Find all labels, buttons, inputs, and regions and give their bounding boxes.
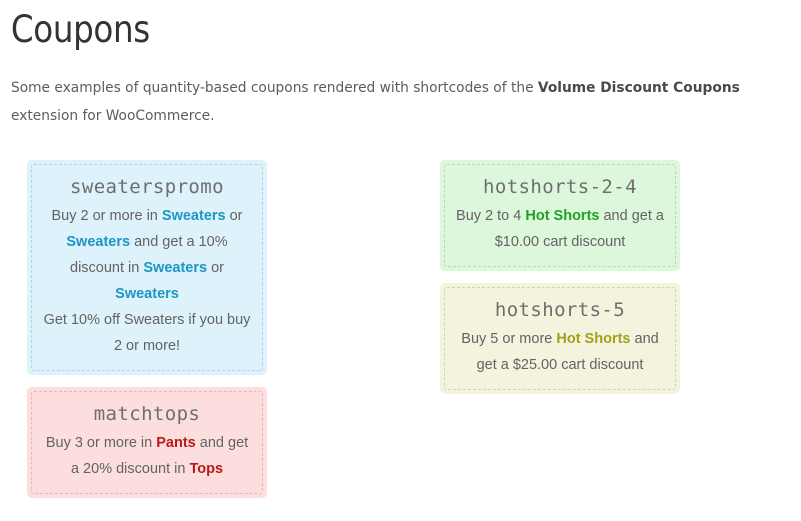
intro-text-after: extension for WooCommerce. xyxy=(11,108,214,124)
intro-paragraph: Some examples of quantity-based coupons … xyxy=(11,74,767,130)
coupon-description: Buy 5 or more Hot Shorts and get a $25.0… xyxy=(453,326,667,378)
coupon-text-segment: or xyxy=(207,260,224,276)
coupon-text-segment: Get 10% off Sweaters if you buy 2 or mor… xyxy=(44,312,251,354)
coupon-product-highlight: Tops xyxy=(189,461,223,477)
coupon-card-sweaterspromo[interactable]: sweaterspromoBuy 2 or more in Sweaters o… xyxy=(27,160,267,375)
coupon-product-highlight: Sweaters xyxy=(115,286,179,302)
coupon-text-segment: Buy 2 or more in xyxy=(51,208,161,224)
coupon-description: Buy 2 to 4 Hot Shorts and get a $10.00 c… xyxy=(453,203,667,255)
coupon-description: Buy 2 or more in Sweaters or Sweaters an… xyxy=(40,203,254,359)
coupon-product-highlight: Hot Shorts xyxy=(556,331,630,347)
coupon-product-highlight: Sweaters xyxy=(66,234,130,250)
coupon-description-line: Buy 2 to 4 Hot Shorts and get a $10.00 c… xyxy=(453,203,667,255)
coupon-column-right: hotshorts-2-4Buy 2 to 4 Hot Shorts and g… xyxy=(440,160,685,406)
coupon-card-hotshorts-5[interactable]: hotshorts-5Buy 5 or more Hot Shorts and … xyxy=(440,283,680,394)
intro-text-before: Some examples of quantity-based coupons … xyxy=(11,80,538,96)
coupon-product-highlight: Hot Shorts xyxy=(525,208,599,224)
coupon-text-segment: Buy 3 or more in xyxy=(46,435,156,451)
coupon-inner-border: hotshorts-5Buy 5 or more Hot Shorts and … xyxy=(444,287,676,390)
coupon-product-highlight: Sweaters xyxy=(162,208,226,224)
coupon-text-segment: Buy 2 to 4 xyxy=(456,208,525,224)
coupon-grid: sweaterspromoBuy 2 or more in Sweaters o… xyxy=(0,160,801,521)
coupon-inner-border: matchtopsBuy 3 or more in Pants and get … xyxy=(31,391,263,494)
coupons-page: Coupons Some examples of quantity-based … xyxy=(0,0,801,521)
coupon-product-highlight: Pants xyxy=(156,435,196,451)
coupon-product-highlight: Sweaters xyxy=(143,260,207,276)
coupon-card-matchtops[interactable]: matchtopsBuy 3 or more in Pants and get … xyxy=(27,387,267,498)
coupon-column-left: sweaterspromoBuy 2 or more in Sweaters o… xyxy=(27,160,272,510)
intro-extension-name: Volume Discount Coupons xyxy=(538,80,740,96)
coupon-description-line: Buy 5 or more Hot Shorts and get a $25.0… xyxy=(453,326,667,378)
coupon-code[interactable]: hotshorts-2-4 xyxy=(453,174,667,200)
coupon-text-segment: or xyxy=(226,208,243,224)
coupon-code[interactable]: matchtops xyxy=(40,401,254,427)
page-title: Coupons xyxy=(10,0,697,52)
coupon-description-line: Get 10% off Sweaters if you buy 2 or mor… xyxy=(40,307,254,359)
coupon-text-segment: Buy 5 or more xyxy=(461,331,556,347)
coupon-description-line: Buy 2 or more in Sweaters or Sweaters an… xyxy=(40,203,254,307)
coupon-description-line: Buy 3 or more in Pants and get a 20% dis… xyxy=(40,430,254,482)
coupon-inner-border: hotshorts-2-4Buy 2 to 4 Hot Shorts and g… xyxy=(444,164,676,267)
coupon-code[interactable]: sweaterspromo xyxy=(40,174,254,200)
coupon-description: Buy 3 or more in Pants and get a 20% dis… xyxy=(40,430,254,482)
coupon-inner-border: sweaterspromoBuy 2 or more in Sweaters o… xyxy=(31,164,263,371)
coupon-card-hotshorts-2-4[interactable]: hotshorts-2-4Buy 2 to 4 Hot Shorts and g… xyxy=(440,160,680,271)
coupon-code[interactable]: hotshorts-5 xyxy=(453,297,667,323)
